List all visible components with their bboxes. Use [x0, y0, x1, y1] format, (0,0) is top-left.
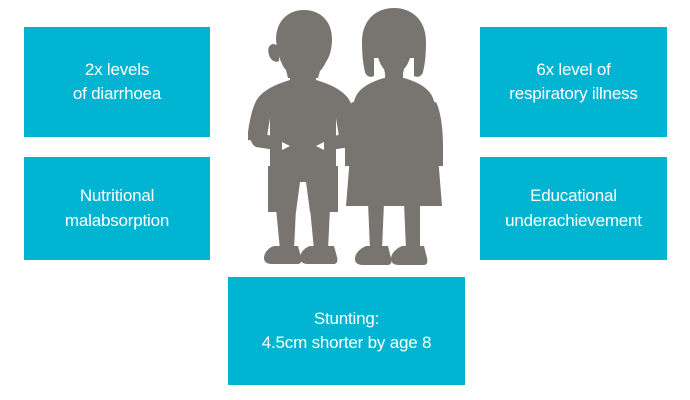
callout-text-nutrition: Nutritional malabsorption [65, 184, 169, 232]
girl-silhouette [345, 8, 443, 265]
callout-box-nutrition: Nutritional malabsorption [24, 157, 210, 260]
callout-text-stunting: Stunting: 4.5cm shorter by age 8 [262, 307, 431, 355]
boy-silhouette [248, 10, 358, 264]
children-silhouettes-group [246, 6, 446, 268]
callout-box-education: Educational underachievement [480, 157, 667, 260]
infographic-canvas: 2x levels of diarrhoea Nutritional malab… [0, 0, 690, 400]
callout-text-diarrhoea: 2x levels of diarrhoea [73, 58, 161, 106]
callout-text-education: Educational underachievement [505, 184, 642, 232]
callout-text-respiratory: 6x level of respiratory illness [509, 58, 637, 106]
callout-box-stunting: Stunting: 4.5cm shorter by age 8 [228, 277, 465, 385]
callout-box-diarrhoea: 2x levels of diarrhoea [24, 27, 210, 137]
callout-box-respiratory: 6x level of respiratory illness [480, 27, 667, 137]
